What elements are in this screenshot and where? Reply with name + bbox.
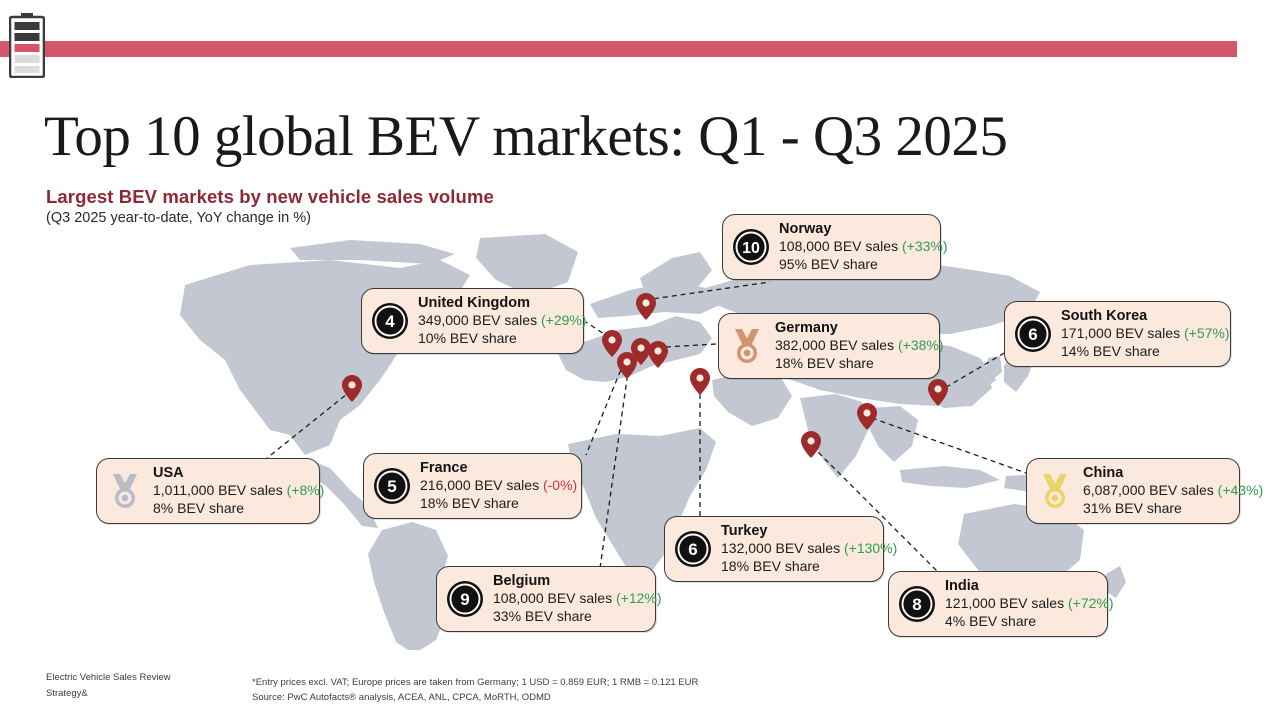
yoy-delta: (-0%) [543, 477, 577, 493]
country-name: United Kingdom [418, 295, 587, 312]
map-pin-south-korea[interactable] [928, 379, 948, 406]
rank-badge-icon: 10 [732, 228, 770, 266]
callout-text: United Kingdom 349,000 BEV sales (+29%) … [418, 295, 587, 347]
sales-line: 216,000 BEV sales (-0%) [420, 477, 577, 495]
bronze-medal-icon [728, 327, 766, 365]
callout-text: South Korea 171,000 BEV sales (+57%) 14%… [1061, 308, 1230, 360]
callout-china[interactable]: China 6,087,000 BEV sales (+43%) 31% BEV… [1026, 458, 1240, 524]
subtitle-note: (Q3 2025 year-to-date, YoY change in %) [46, 210, 311, 226]
sales-line: 121,000 BEV sales (+72%) [945, 595, 1114, 613]
map-pin-norway[interactable] [636, 293, 656, 320]
yoy-delta: (+12%) [616, 590, 662, 606]
callout-text: Norway 108,000 BEV sales (+33%) 95% BEV … [779, 221, 948, 273]
sales-line: 349,000 BEV sales (+29%) [418, 312, 587, 330]
svg-text:4: 4 [385, 312, 395, 331]
share-line: 10% BEV share [418, 330, 587, 348]
sales-line: 6,087,000 BEV sales (+43%) [1083, 482, 1263, 500]
svg-text:10: 10 [742, 240, 760, 257]
callout-turkey[interactable]: 6 Turkey 132,000 BEV sales (+130%) 18% B… [664, 516, 884, 582]
callout-text: USA 1,011,000 BEV sales (+8%) 8% BEV sha… [153, 465, 324, 517]
map-pin-germany[interactable] [648, 341, 668, 368]
footer-brand: Strategy& [46, 686, 171, 702]
map-pin-china[interactable] [857, 403, 877, 430]
map-pin-usa[interactable] [342, 375, 362, 402]
sales-line: 108,000 BEV sales (+33%) [779, 238, 948, 256]
callout-text: India 121,000 BEV sales (+72%) 4% BEV sh… [945, 578, 1114, 630]
country-name: Norway [779, 221, 948, 238]
callout-text: Turkey 132,000 BEV sales (+130%) 18% BEV… [721, 523, 897, 575]
header-accent-bar [0, 41, 1237, 57]
share-line: 14% BEV share [1061, 343, 1230, 361]
callout-text: France 216,000 BEV sales (-0%) 18% BEV s… [420, 460, 577, 512]
country-name: China [1083, 465, 1263, 482]
battery-icon [9, 13, 45, 78]
country-name: South Korea [1061, 308, 1230, 325]
country-name: USA [153, 465, 324, 482]
sales-line: 1,011,000 BEV sales (+8%) [153, 482, 324, 500]
share-line: 31% BEV share [1083, 500, 1263, 518]
callout-norway[interactable]: 10 Norway 108,000 BEV sales (+33%) 95% B… [722, 214, 941, 280]
subtitle: Largest BEV markets by new vehicle sales… [46, 186, 494, 208]
rank-badge-icon: 6 [674, 530, 712, 568]
yoy-delta: (+72%) [1068, 595, 1114, 611]
callout-germany[interactable]: Germany 382,000 BEV sales (+38%) 18% BEV… [718, 313, 940, 379]
gold-medal-icon [1036, 472, 1074, 510]
share-line: 33% BEV share [493, 608, 662, 626]
footnote: *Entry prices excl. VAT; Europe prices a… [252, 675, 698, 690]
rank-badge-icon: 6 [1014, 315, 1052, 353]
rank-badge-icon: 5 [373, 467, 411, 505]
svg-text:8: 8 [912, 595, 921, 614]
callout-united-kingdom[interactable]: 4 United Kingdom 349,000 BEV sales (+29%… [361, 288, 584, 354]
svg-text:9: 9 [460, 590, 469, 609]
share-line: 4% BEV share [945, 613, 1114, 631]
share-line: 18% BEV share [775, 355, 944, 373]
svg-text:6: 6 [1028, 325, 1037, 344]
country-name: France [420, 460, 577, 477]
rank-badge-icon: 8 [898, 585, 936, 623]
yoy-delta: (+130%) [844, 540, 897, 556]
callout-belgium[interactable]: 9 Belgium 108,000 BEV sales (+12%) 33% B… [436, 566, 656, 632]
yoy-delta: (+57%) [1184, 325, 1230, 341]
rank-badge-icon: 9 [446, 580, 484, 618]
callout-text: Belgium 108,000 BEV sales (+12%) 33% BEV… [493, 573, 662, 625]
sales-line: 132,000 BEV sales (+130%) [721, 540, 897, 558]
map-pin-india[interactable] [801, 431, 821, 458]
svg-text:5: 5 [387, 477, 396, 496]
share-line: 18% BEV share [420, 495, 577, 513]
share-line: 8% BEV share [153, 500, 324, 518]
sales-line: 171,000 BEV sales (+57%) [1061, 325, 1230, 343]
silver-medal-icon [106, 472, 144, 510]
yoy-delta: (+8%) [287, 482, 325, 498]
slide: Top 10 global BEV markets: Q1 - Q3 2025 … [0, 0, 1284, 721]
footer-left: Electric Vehicle Sales Review Strategy& [46, 670, 171, 702]
map-pin-turkey[interactable] [690, 368, 710, 395]
callout-text: China 6,087,000 BEV sales (+43%) 31% BEV… [1083, 465, 1263, 517]
callout-france[interactable]: 5 France 216,000 BEV sales (-0%) 18% BEV… [363, 453, 582, 519]
callout-usa[interactable]: USA 1,011,000 BEV sales (+8%) 8% BEV sha… [96, 458, 320, 524]
map-pin-france[interactable] [617, 352, 637, 379]
share-line: 18% BEV share [721, 558, 897, 576]
source-line: Source: PwC Autofacts® analysis, ACEA, A… [252, 690, 698, 705]
country-name: Belgium [493, 573, 662, 590]
sales-line: 382,000 BEV sales (+38%) [775, 337, 944, 355]
svg-text:6: 6 [688, 540, 697, 559]
callout-south-korea[interactable]: 6 South Korea 171,000 BEV sales (+57%) 1… [1004, 301, 1231, 367]
country-name: Germany [775, 320, 944, 337]
footer-notes: *Entry prices excl. VAT; Europe prices a… [252, 675, 698, 705]
yoy-delta: (+33%) [902, 238, 948, 254]
sales-line: 108,000 BEV sales (+12%) [493, 590, 662, 608]
callout-india[interactable]: 8 India 121,000 BEV sales (+72%) 4% BEV … [888, 571, 1108, 637]
yoy-delta: (+29%) [541, 312, 587, 328]
yoy-delta: (+43%) [1218, 482, 1264, 498]
country-name: Turkey [721, 523, 897, 540]
page-title: Top 10 global BEV markets: Q1 - Q3 2025 [44, 105, 1007, 169]
yoy-delta: (+38%) [898, 337, 944, 353]
rank-badge-icon: 4 [371, 302, 409, 340]
footer-report-name: Electric Vehicle Sales Review [46, 670, 171, 686]
callout-text: Germany 382,000 BEV sales (+38%) 18% BEV… [775, 320, 944, 372]
country-name: India [945, 578, 1114, 595]
share-line: 95% BEV share [779, 256, 948, 274]
